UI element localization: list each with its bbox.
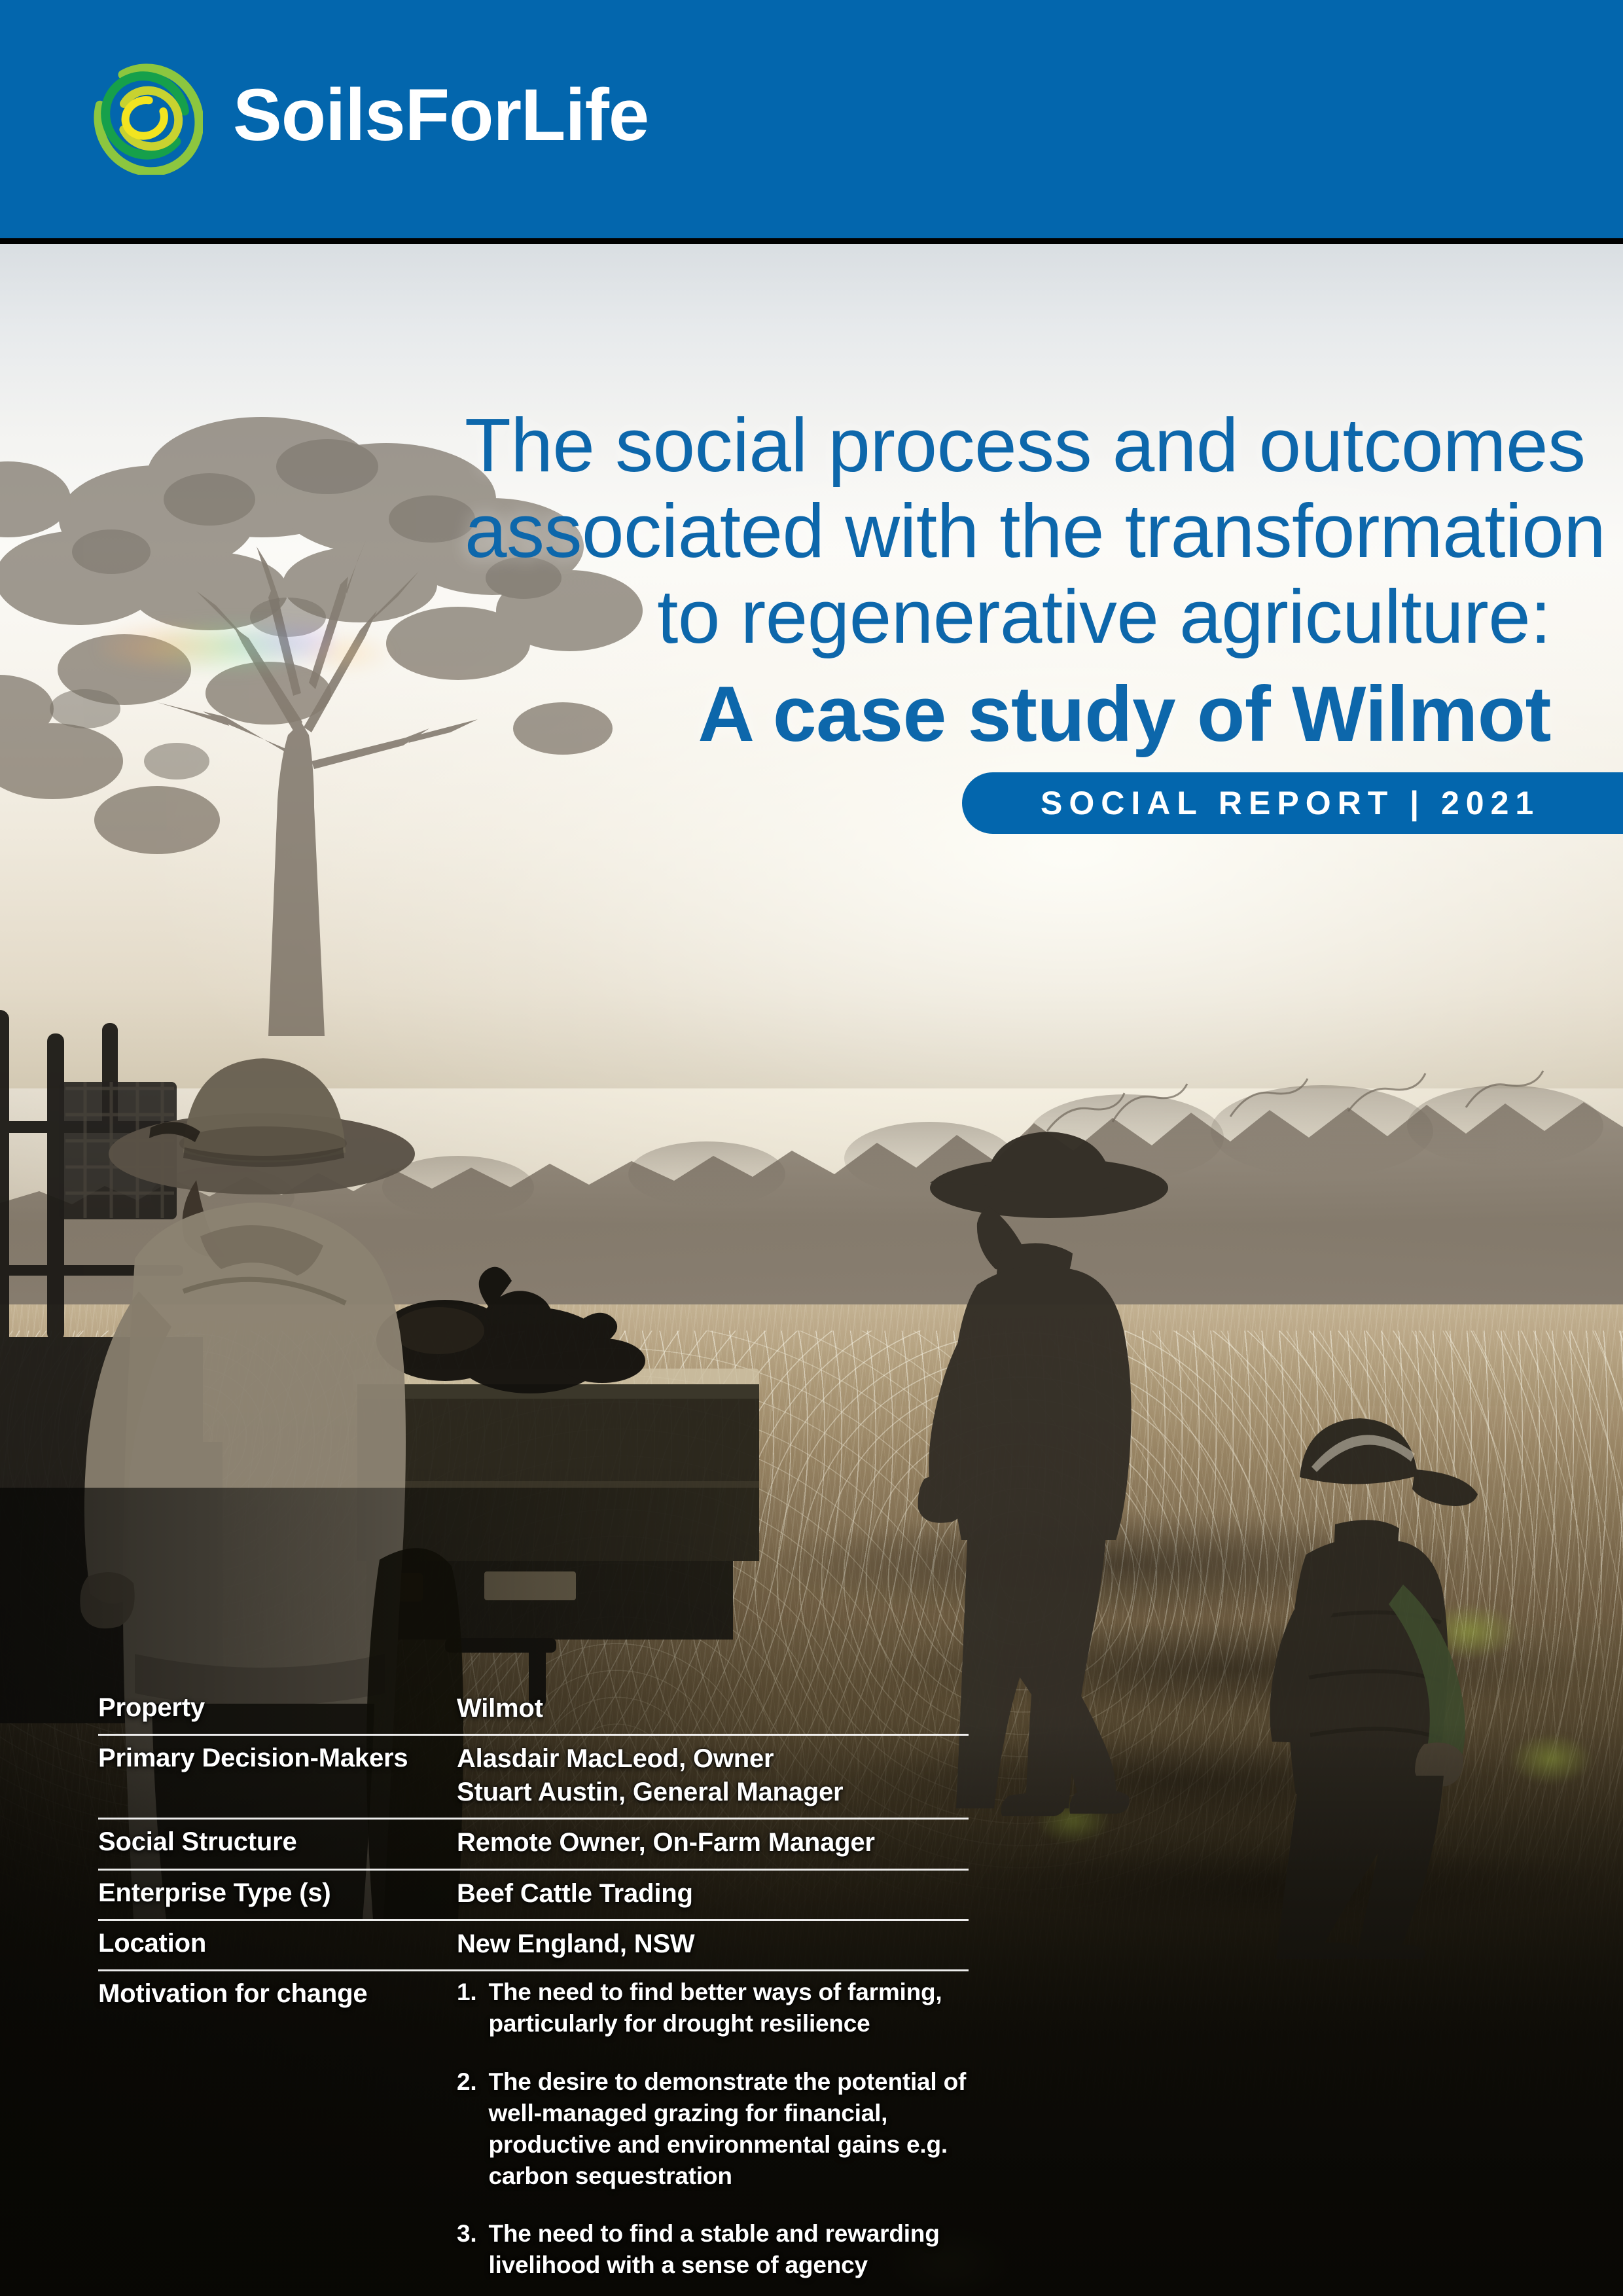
- list-item-number: 2.: [457, 2066, 476, 2192]
- report-banner-label: SOCIAL REPORT | 2021: [1041, 784, 1540, 822]
- lens-flare-secondary-icon: [281, 624, 412, 683]
- brand-name: SoilsForLife: [233, 79, 649, 152]
- table-row: Location New England, NSW: [98, 1921, 969, 1971]
- list-item: 3. The need to find a stable and rewardi…: [457, 2218, 969, 2281]
- list-item: 1. The need to find better ways of farmi…: [457, 1977, 969, 2039]
- list-item-text: The need to find a stable and rewarding …: [488, 2218, 969, 2281]
- row-value: Alasdair MacLeod, Owner Stuart Austin, G…: [457, 1740, 969, 1808]
- property-info-table: Property Wilmot Primary Decision-Makers …: [98, 1685, 969, 2296]
- row-value: 1. The need to find better ways of farmi…: [457, 1975, 969, 2284]
- brand-lockup: SoilsForLife: [92, 60, 649, 175]
- child-walking-icon: [1243, 1396, 1531, 1959]
- row-label: Primary Decision-Makers: [98, 1740, 457, 1808]
- list-item-text: The desire to demonstrate the potential …: [488, 2066, 969, 2192]
- list-item: 2. The desire to demonstrate the potenti…: [457, 2066, 969, 2192]
- row-label: Enterprise Type (s): [98, 1874, 457, 1910]
- row-label: Location: [98, 1925, 457, 1960]
- header-divider: [0, 238, 1623, 244]
- list-item-number: 1.: [457, 1977, 476, 2039]
- row-label: Motivation for change: [98, 1975, 457, 2284]
- table-row-motivation: Motivation for change 1. The need to fin…: [98, 1971, 969, 2296]
- table-row: Primary Decision-Makers Alasdair MacLeod…: [98, 1736, 969, 1820]
- title-emphasis: A case study of Wilmot: [465, 670, 1551, 759]
- concentric-spiral-icon: [92, 60, 203, 175]
- row-value: Beef Cattle Trading: [457, 1874, 969, 1910]
- list-item-number: 3.: [457, 2218, 476, 2281]
- title-line-1: The social process and outcomes: [465, 403, 1551, 488]
- row-value: New England, NSW: [457, 1925, 969, 1960]
- cover-page: The social process and outcomes associat…: [0, 0, 1623, 2296]
- row-label: Property: [98, 1689, 457, 1725]
- table-row: Social Structure Remote Owner, On-Farm M…: [98, 1820, 969, 1870]
- cover-title-block: The social process and outcomes associat…: [465, 403, 1551, 759]
- row-value: Remote Owner, On-Farm Manager: [457, 1823, 969, 1859]
- row-value-line-1: Alasdair MacLeod, Owner: [457, 1742, 969, 1775]
- list-item-text: The need to find better ways of farming,…: [488, 1977, 969, 2039]
- table-row: Property Wilmot: [98, 1685, 969, 1736]
- table-row: Enterprise Type (s) Beef Cattle Trading: [98, 1871, 969, 1921]
- report-banner: SOCIAL REPORT | 2021: [962, 772, 1623, 834]
- row-label: Social Structure: [98, 1823, 457, 1859]
- row-value: Wilmot: [457, 1689, 969, 1725]
- row-value-line-2: Stuart Austin, General Manager: [457, 1776, 969, 1808]
- title-line-3: to regenerative agriculture:: [465, 574, 1551, 660]
- page-header: SoilsForLife: [0, 0, 1623, 238]
- title-line-2: associated with the transformation: [465, 488, 1551, 574]
